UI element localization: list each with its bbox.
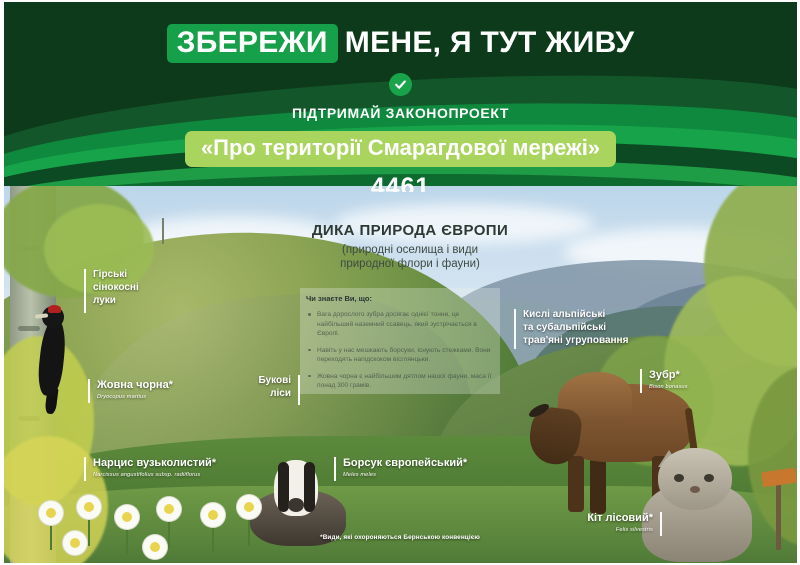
callout-latin-name: Felis silvestris — [552, 527, 662, 533]
call-to-action-subtitle: ПІДТРИМАЙ ЗАКОНОПРОЕКТ — [4, 105, 797, 121]
bill-name-badge: «Про території Смарагдової мережі» — [185, 131, 616, 167]
summit-mast — [162, 218, 164, 244]
callout-name: Жовна чорна* — [88, 378, 173, 393]
header-banner: ЗБЕРЕЖИМЕНЕ, Я ТУТ ЖИВУ ПІДТРИМАЙ ЗАКОНО… — [4, 2, 797, 192]
callout-bar — [660, 512, 662, 536]
callout-bar — [88, 379, 90, 403]
callout-mountain-hay-meadows: Гірськісінокоснілуки — [84, 268, 139, 308]
callout-european-bison: Зубр* Bison bonasus — [640, 368, 688, 390]
panel-subtitle-line-1: (природні оселища і види — [342, 244, 478, 256]
callout-latin-name: Meles meles — [334, 472, 467, 478]
callout-name: Кіт лісовий* — [552, 511, 662, 526]
callout-bar — [84, 457, 86, 481]
title-rest: МЕНЕ, Я ТУТ ЖИВУ — [338, 26, 635, 59]
poster-title: ЗБЕРЕЖИМЕНЕ, Я ТУТ ЖИВУ — [4, 24, 797, 63]
callout-latin-name: Dryocopus martius — [88, 394, 173, 400]
callout-latin-name: Narcissus angustifolius subsp. radiiflor… — [84, 472, 216, 478]
panel-title: ДИКА ПРИРОДА ЄВРОПИ — [290, 222, 530, 239]
callout-beech-forests: Буковіліси — [240, 374, 300, 400]
black-woodpecker-photo — [34, 304, 74, 414]
fact-item: Вага дорослого зубра досягає однієї тонн… — [306, 310, 492, 339]
wildcat-photo — [634, 448, 764, 563]
poster: ЗБЕРЕЖИМЕНЕ, Я ТУТ ЖИВУ ПІДТРИМАЙ ЗАКОНО… — [0, 0, 800, 565]
title-highlight: ЗБЕРЕЖИ — [167, 24, 338, 63]
panel-subtitle-line-2: природної флори і фауни) — [340, 258, 480, 270]
callout-name: Зубр* — [640, 368, 688, 383]
panel-subtitle: (природні оселища і види природної флори… — [290, 243, 530, 272]
callout-black-woodpecker: Жовна чорна* Dryocopus martius — [88, 378, 173, 400]
callout-name: Борсук європейський* — [334, 456, 467, 471]
facts-heading: Чи знаєте Ви, що: — [306, 294, 492, 303]
narcissus-flowers-photo — [22, 486, 282, 563]
callout-latin-name: Bison bonasus — [640, 384, 688, 390]
check-badge — [4, 73, 797, 96]
callout-bar — [334, 457, 336, 481]
callout-name: Буковіліси — [240, 374, 300, 400]
callout-european-badger: Борсук європейський* Meles meles — [334, 456, 467, 478]
panel-heading-block: ДИКА ПРИРОДА ЄВРОПИ (природні оселища і … — [290, 222, 530, 272]
fact-item: Жовна чорна є найбільшим дятлом нашої фа… — [306, 372, 492, 391]
callout-name: Нарцис вузьколистий* — [84, 456, 216, 471]
footnote: *Види, які охороняються Бернською конвен… — [0, 534, 800, 541]
callout-name: Гірськісінокоснілуки — [84, 268, 139, 308]
fact-item: Навіть у нас мешкають борсуки, існують с… — [306, 346, 492, 365]
callout-bar — [298, 375, 300, 405]
callout-name: Кислі альпійськіта субальпійськітрав'яні… — [514, 308, 628, 348]
bill-number: 4461 — [4, 173, 797, 192]
callout-bar — [514, 309, 516, 349]
callout-alpine-grasslands: Кислі альпійськіта субальпійськітрав'яні… — [514, 308, 628, 348]
callout-narrow-leaved-narcissus: Нарцис вузьколистий* Narcissus angustifo… — [84, 456, 216, 478]
check-icon — [389, 73, 412, 96]
callout-bar — [84, 269, 86, 313]
callout-bar — [640, 369, 642, 393]
facts-panel: Чи знаєте Ви, що: Вага дорослого зубра д… — [300, 288, 500, 394]
callout-wildcat: Кіт лісовий* Felis silvestris — [552, 511, 662, 533]
